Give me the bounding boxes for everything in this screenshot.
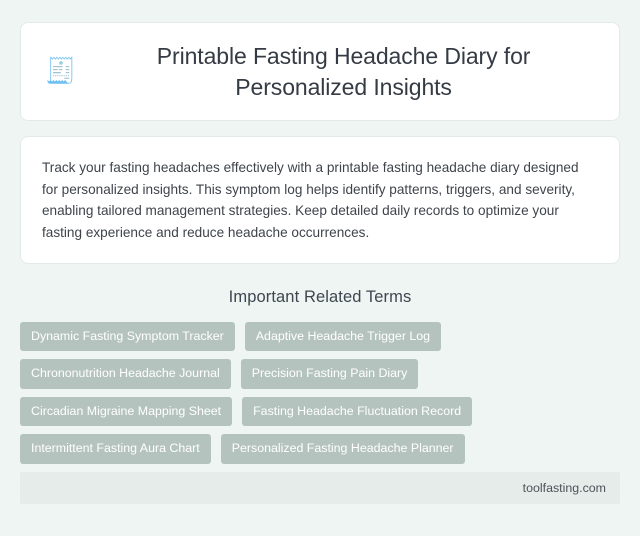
related-term-tag[interactable]: Personalized Fasting Headache Planner (221, 434, 465, 463)
footer-bar: toolfasting.com (20, 472, 620, 504)
page-title: Printable Fasting Headache Diary for Per… (92, 41, 595, 103)
related-term-tag[interactable]: Dynamic Fasting Symptom Tracker (20, 322, 235, 351)
page-root: 🧾 Printable Fasting Headache Diary for P… (0, 0, 640, 536)
related-term-tag[interactable]: Precision Fasting Pain Diary (241, 359, 419, 388)
related-term-tag[interactable]: Chrononutrition Headache Journal (20, 359, 231, 388)
related-term-tag[interactable]: Adaptive Headache Trigger Log (245, 322, 441, 351)
description-text: Track your fasting headaches effectively… (42, 157, 598, 243)
related-term-tag[interactable]: Fasting Headache Fluctuation Record (242, 397, 472, 426)
related-terms-heading: Important Related Terms (20, 288, 620, 307)
title-row: 🧾 Printable Fasting Headache Diary for P… (45, 41, 595, 103)
description-card: Track your fasting headaches effectively… (20, 136, 620, 264)
related-term-tag[interactable]: Circadian Migraine Mapping Sheet (20, 397, 232, 426)
related-term-tag[interactable]: Intermittent Fasting Aura Chart (20, 434, 211, 463)
footer-site-label: toolfasting.com (523, 481, 606, 495)
title-card: 🧾 Printable Fasting Headache Diary for P… (20, 22, 620, 121)
receipt-icon: 🧾 (45, 59, 76, 84)
